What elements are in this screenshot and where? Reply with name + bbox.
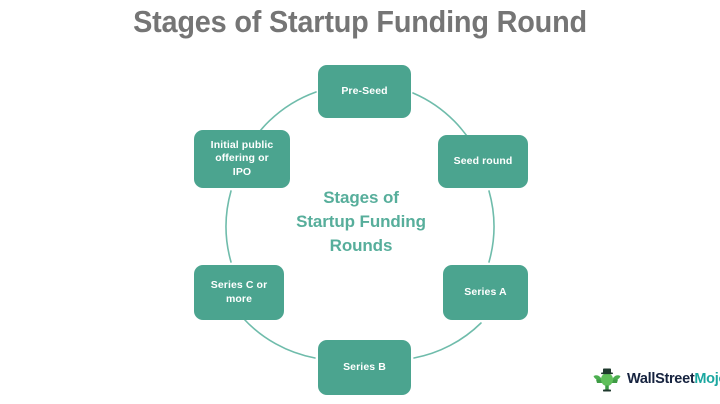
wallstreetmojo-logo[interactable]: WallStreetMojo [592,362,714,396]
logo-text-wallstreet: WallStreet [627,371,694,387]
node-pre-seed[interactable]: Pre-Seed [318,65,411,118]
node-ipo-line-2: offering or [215,152,269,164]
node-series-c-text: Series C or more [211,279,268,306]
node-ipo-line-3: IPO [233,166,251,178]
arc-seriesc-to-ipo [226,191,231,262]
cycle-diagram: Pre-Seed Seed round Series A Series B Se… [0,46,720,404]
logo-text-mojo: Mojo [694,371,720,387]
center-label-line-3: Rounds [330,236,393,255]
arc-seed-to-seriesa [489,191,494,262]
page-title: Stages of Startup Funding Round [25,4,695,40]
logo-wordmark: WallStreetMojo [627,371,720,387]
center-label-line-1: Stages of [323,188,399,207]
arc-seriesb-to-seriesc [243,318,315,358]
node-series-b[interactable]: Series B [318,340,411,395]
diagram-center-label: Stages of Startup Funding Rounds [268,186,454,258]
center-label-line-2: Startup Funding [296,212,426,231]
node-seed-round[interactable]: Seed round [438,135,528,188]
arc-seriesa-to-seriesb [414,323,481,358]
node-series-a[interactable]: Series A [443,265,528,320]
node-ipo-text: Initial public offering or IPO [211,139,274,179]
wallstreetmojo-bull-icon [592,364,622,394]
node-series-c[interactable]: Series C or more [194,265,284,320]
node-series-c-line-2: more [226,293,252,305]
node-ipo-line-1: Initial public [211,139,274,151]
node-series-c-line-1: Series C or [211,279,268,291]
node-ipo[interactable]: Initial public offering or IPO [194,130,290,188]
